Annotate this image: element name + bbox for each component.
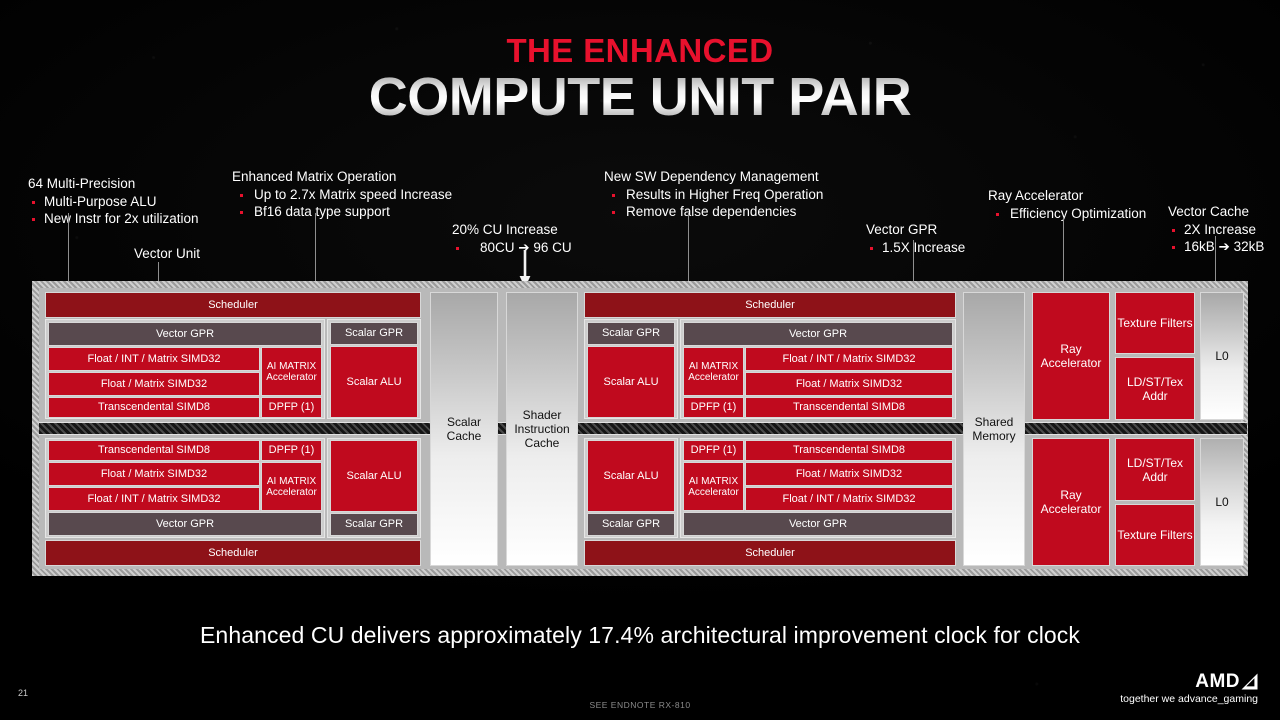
annotation-bullet: 16kB ➔ 32kB — [1168, 238, 1264, 256]
annotation-heading: 20% CU Increase — [452, 221, 572, 239]
texture-filters-bottom[interactable]: Texture Filters — [1115, 504, 1195, 566]
annotation-bullet: 2X Increase — [1168, 221, 1264, 239]
annotation-bullet: Results in Higher Freq Operation — [604, 186, 823, 204]
right-cu-bottom-scheduler[interactable]: Scheduler — [584, 540, 956, 566]
l0-cache-top[interactable]: L0 — [1200, 292, 1244, 420]
annotation-bullet: New Instr for 2x utilization — [28, 210, 199, 228]
annotation-ray-accelerator: Ray Accelerator Efficiency Optimization — [988, 187, 1146, 222]
ray-accelerator-top[interactable]: Ray Accelerator — [1032, 292, 1110, 420]
right-cu-top-dpfp[interactable]: DPFP (1) — [683, 397, 744, 418]
right-cu-top-simd-1[interactable]: Float / Matrix SIMD32 — [745, 372, 953, 396]
right-cu-bottom-scalar-alu[interactable]: Scalar ALU — [587, 440, 675, 512]
annotation-sw-dependency: New SW Dependency Management Results in … — [604, 168, 823, 221]
ldst-tex-addr-top[interactable]: LD/ST/Tex Addr — [1115, 357, 1195, 420]
right-cu-top-scheduler[interactable]: Scheduler — [584, 292, 956, 318]
annotation-heading: New SW Dependency Management — [604, 168, 823, 186]
left-cu-bottom-dpfp[interactable]: DPFP (1) — [261, 440, 322, 461]
annotation-bullets: 80CU ➔ 96 CU — [452, 239, 572, 257]
right-cu-top-simd-2[interactable]: Transcendental SIMD8 — [745, 397, 953, 418]
annotation-heading: Enhanced Matrix Operation — [232, 168, 452, 186]
annotation-vector-unit: Vector Unit — [134, 245, 200, 263]
l0-cache-bottom[interactable]: L0 — [1200, 438, 1244, 566]
slide-canvas: THE ENHANCED COMPUTE UNIT PAIR 64 Multi-… — [0, 0, 1280, 720]
title-line-2: COMPUTE UNIT PAIR — [0, 67, 1280, 127]
annotation-heading: Vector GPR — [866, 221, 965, 239]
annotation-bullets: 2X Increase 16kB ➔ 32kB — [1168, 221, 1264, 256]
right-cu-bottom-simd-0[interactable]: Transcendental SIMD8 — [745, 440, 953, 461]
right-cu-top-scalar-alu[interactable]: Scalar ALU — [587, 346, 675, 418]
annotation-vector-cache: Vector Cache 2X Increase 16kB ➔ 32kB — [1168, 203, 1264, 256]
page-number: 21 — [18, 688, 28, 698]
left-cu-bottom-ai-matrix-accelerator[interactable]: AI MATRIX Accelerator — [261, 462, 322, 511]
annotation-bullet: Bf16 data type support — [232, 203, 452, 221]
annotation-bullets: 1.5X Increase — [866, 239, 965, 257]
left-cu-bottom-scheduler[interactable]: Scheduler — [45, 540, 421, 566]
right-cu-top-ai-matrix-accelerator[interactable]: AI MATRIX Accelerator — [683, 347, 744, 396]
annotation-bullets: Results in Higher Freq Operation Remove … — [604, 186, 823, 221]
endnote-reference: SEE ENDNOTE RX-810 — [0, 700, 1280, 710]
annotation-heading: Ray Accelerator — [988, 187, 1146, 205]
annotation-heading: Vector Cache — [1168, 203, 1264, 221]
left-cu-top-ai-matrix-accelerator[interactable]: AI MATRIX Accelerator — [261, 347, 322, 396]
annotation-matrix-operation: Enhanced Matrix Operation Up to 2.7x Mat… — [232, 168, 452, 221]
ray-accelerator-bottom[interactable]: Ray Accelerator — [1032, 438, 1110, 566]
shader-instruction-cache[interactable]: Shader Instruction Cache — [506, 292, 578, 566]
left-cu-bottom-simd-0[interactable]: Transcendental SIMD8 — [48, 440, 260, 461]
amd-tagline: together we advance_gaming — [1120, 692, 1258, 706]
title-line-1: THE ENHANCED — [0, 34, 1280, 67]
left-cu-top-simd-1[interactable]: Float / Matrix SIMD32 — [48, 372, 260, 396]
annotation-bullet: Efficiency Optimization — [988, 205, 1146, 223]
page-title: THE ENHANCED COMPUTE UNIT PAIR — [0, 34, 1280, 127]
annotation-bullet: Multi-Purpose ALU — [28, 193, 199, 211]
compute-unit-pair-diagram: Scheduler Vector GPR Float / INT / Matri… — [32, 281, 1248, 576]
right-cu-top-scalar-gpr[interactable]: Scalar GPR — [587, 322, 675, 345]
left-cu-top-simd-2[interactable]: Transcendental SIMD8 — [48, 397, 260, 418]
left-cu-bottom-simd-1[interactable]: Float / Matrix SIMD32 — [48, 462, 260, 486]
left-cu-top-scheduler[interactable]: Scheduler — [45, 292, 421, 318]
texture-filters-top[interactable]: Texture Filters — [1115, 292, 1195, 354]
right-cu-bottom-simd-2[interactable]: Float / INT / Matrix SIMD32 — [745, 487, 953, 511]
right-cu-bottom-scalar-gpr[interactable]: Scalar GPR — [587, 513, 675, 536]
left-cu-top-scalar-gpr[interactable]: Scalar GPR — [330, 322, 418, 345]
right-cu-bottom-simd-1[interactable]: Float / Matrix SIMD32 — [745, 462, 953, 486]
annotation-multi-precision: 64 Multi-Precision Multi-Purpose ALU New… — [28, 175, 199, 228]
amd-logo: AMD together we advance_gaming — [1120, 672, 1258, 706]
annotation-bullets: Multi-Purpose ALU New Instr for 2x utili… — [28, 193, 199, 228]
annotation-bullet: 80CU ➔ 96 CU — [452, 239, 572, 257]
left-cu-top-vector-gpr[interactable]: Vector GPR — [48, 322, 322, 346]
right-cu-bottom-ai-matrix-accelerator[interactable]: AI MATRIX Accelerator — [683, 462, 744, 511]
annotation-vector-gpr: Vector GPR 1.5X Increase — [866, 221, 965, 256]
ldst-tex-addr-bottom[interactable]: LD/ST/Tex Addr — [1115, 438, 1195, 501]
left-cu-bottom-vector-gpr[interactable]: Vector GPR — [48, 512, 322, 536]
amd-arrow-icon — [1241, 673, 1258, 690]
diagram-inner-frame: Scheduler Vector GPR Float / INT / Matri… — [39, 288, 1241, 569]
right-units-separator-band — [1025, 422, 1247, 435]
left-cu-bottom-scalar-gpr[interactable]: Scalar GPR — [330, 513, 418, 536]
right-cu-bottom-dpfp[interactable]: DPFP (1) — [683, 440, 744, 461]
shared-memory[interactable]: Shared Memory — [963, 292, 1025, 566]
annotation-heading: Vector Unit — [134, 245, 200, 263]
left-cu-top-dpfp[interactable]: DPFP (1) — [261, 397, 322, 418]
left-cu-top-simd-0[interactable]: Float / INT / Matrix SIMD32 — [48, 347, 260, 371]
scalar-cache[interactable]: Scalar Cache — [430, 292, 498, 566]
right-cu-bottom-vector-gpr[interactable]: Vector GPR — [683, 512, 953, 536]
right-cu-top-vector-gpr[interactable]: Vector GPR — [683, 322, 953, 346]
annotation-bullet: Remove false dependencies — [604, 203, 823, 221]
annotation-bullets: Up to 2.7x Matrix speed Increase Bf16 da… — [232, 186, 452, 221]
left-cu-bottom-simd-2[interactable]: Float / INT / Matrix SIMD32 — [48, 487, 260, 511]
amd-wordmark: AMD — [1120, 672, 1258, 691]
annotation-bullet: 1.5X Increase — [866, 239, 965, 257]
summary-tagline: Enhanced CU delivers approximately 17.4%… — [0, 622, 1280, 649]
annotation-bullet: Up to 2.7x Matrix speed Increase — [232, 186, 452, 204]
annotation-cu-increase: 20% CU Increase 80CU ➔ 96 CU — [452, 221, 572, 256]
right-cu-top-simd-0[interactable]: Float / INT / Matrix SIMD32 — [745, 347, 953, 371]
annotation-heading: 64 Multi-Precision — [28, 175, 199, 193]
left-cu-bottom-scalar-alu[interactable]: Scalar ALU — [330, 440, 418, 512]
left-cu-top-scalar-alu[interactable]: Scalar ALU — [330, 346, 418, 418]
amd-wordmark-text: AMD — [1195, 672, 1240, 691]
annotation-bullets: Efficiency Optimization — [988, 205, 1146, 223]
